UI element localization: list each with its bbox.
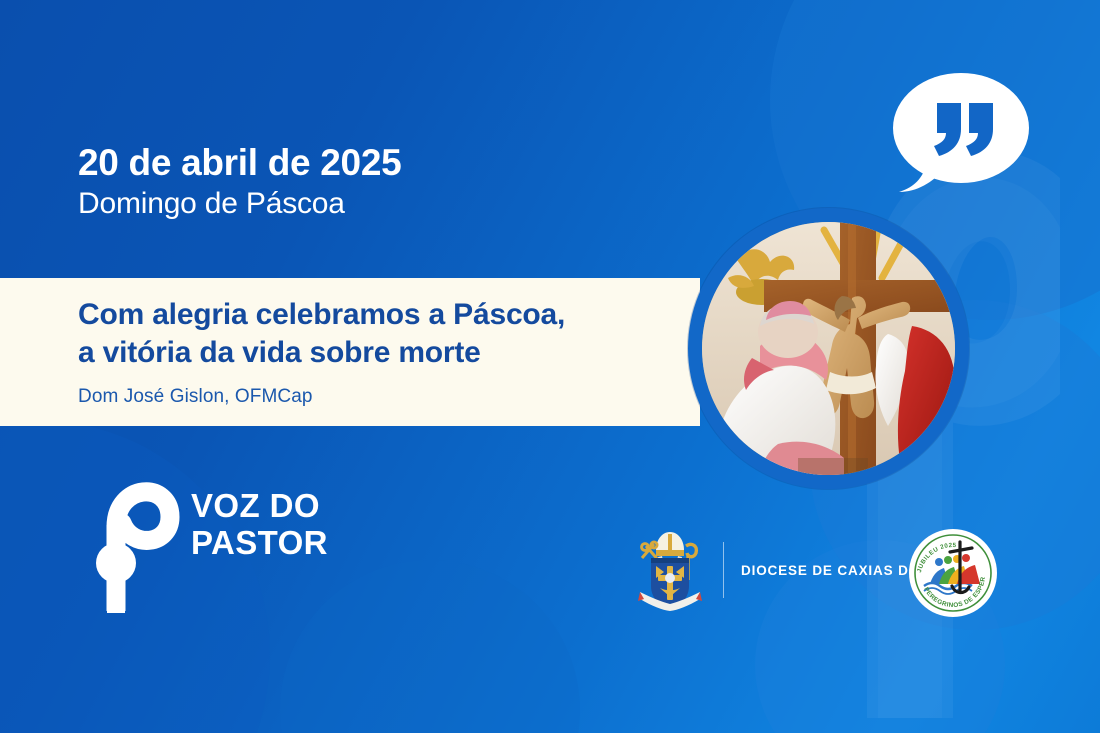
jubilee-2025-logo-icon: JUBILEU 2025 PEREGRINOS DE ESPERANÇA: [908, 528, 998, 618]
speech-bubble: [881, 70, 1031, 200]
quote-line-2: a vitória da vida sobre morte: [78, 334, 678, 372]
voz-do-pastor-wordmark: VOZ DO PASTOR: [191, 488, 328, 562]
jubilee-seal: JUBILEU 2025 PEREGRINOS DE ESPERANÇA: [908, 528, 998, 618]
photo-circle: [702, 222, 955, 475]
diocese-lockup: DIOCESE DE CAXIAS DO SUL: [634, 528, 954, 612]
crosier-icon: [78, 465, 188, 615]
coat-of-arms-icon: [634, 528, 706, 612]
photo-ring: [688, 208, 969, 489]
voz-do-pastor-logo: VOZ DO PASTOR: [78, 465, 318, 615]
quote-band-content: Com alegria celebramos a Páscoa, a vitór…: [78, 296, 678, 408]
quote-line-1: Com alegria celebramos a Páscoa,: [78, 296, 678, 334]
date-text: 20 de abril de 2025: [78, 142, 401, 183]
logo-line-2: PASTOR: [191, 525, 328, 562]
bg-circle-bottom-center: [280, 560, 580, 733]
date-block: 20 de abril de 2025 Domingo de Páscoa: [78, 142, 401, 223]
liturgical-day-text: Domingo de Páscoa: [78, 185, 401, 223]
bishop-venerating-crucifix-image: [702, 222, 955, 475]
logo-line-1: VOZ DO: [191, 488, 328, 525]
quote-author: Dom José Gislon, OFMCap: [78, 386, 678, 408]
diocese-divider: [723, 542, 724, 598]
quote-bubble-icon: [881, 70, 1031, 200]
voz-do-pastor-card: 20 de abril de 2025 Domingo de Páscoa Co…: [0, 0, 1100, 733]
